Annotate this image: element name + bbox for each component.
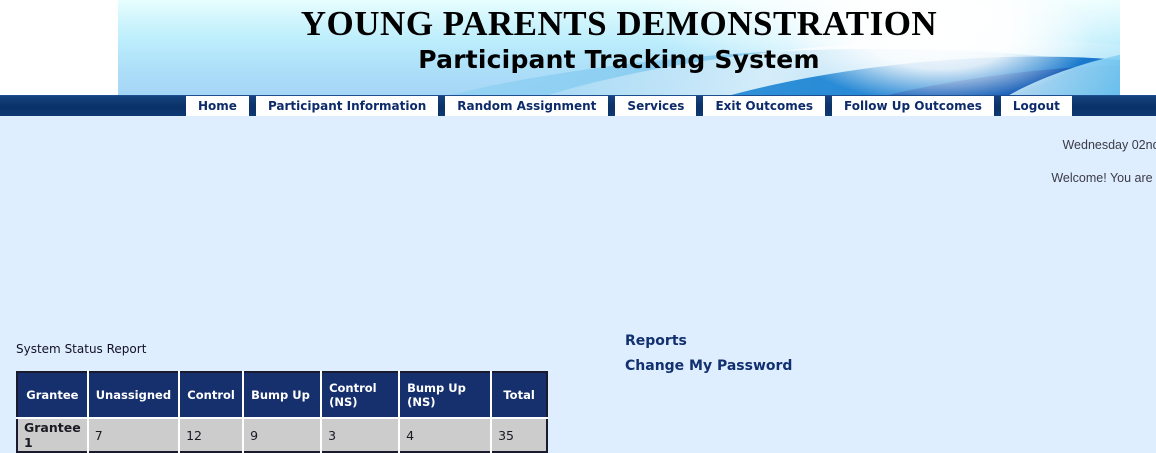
- welcome-message-text: Welcome! You are currently logged: [89, 171, 1156, 185]
- cell-unassigned: 7: [88, 418, 179, 452]
- cell-control: 12: [179, 418, 243, 452]
- cell-control-ns: 3: [321, 418, 399, 452]
- cell-grantee: Grantee 1: [17, 418, 88, 452]
- banner-title-group: YOUNG PARENTS DEMONSTRATION Participant …: [118, 0, 1120, 95]
- nav-item-random-assignment[interactable]: Random Assignment: [445, 96, 608, 117]
- nav-item-participant-information[interactable]: Participant Information: [256, 96, 438, 117]
- banner-artwork: YOUNG PARENTS DEMONSTRATION Participant …: [118, 0, 1120, 95]
- site-banner: YOUNG PARENTS DEMONSTRATION Participant …: [0, 0, 1156, 95]
- current-date-text: Wednesday 02nd of December 2: [89, 138, 1156, 152]
- column-header-total: Total: [491, 372, 547, 418]
- nav-item-exit-outcomes[interactable]: Exit Outcomes: [703, 96, 825, 117]
- column-header-control: Control: [179, 372, 243, 418]
- page-content: Wednesday 02nd of December 2 Welcome! Yo…: [0, 116, 1156, 427]
- column-header-bump-up-ns: Bump Up (NS): [399, 372, 491, 418]
- quick-links: Reports Change My Password: [625, 333, 792, 383]
- nav-item-services[interactable]: Services: [615, 96, 696, 117]
- cell-total: 35: [491, 418, 547, 452]
- column-header-bump-up: Bump Up: [243, 372, 321, 418]
- table-row: Grantee 1 7 12 9 3 4 35: [17, 418, 547, 452]
- cell-bump-up-ns: 4: [399, 418, 491, 452]
- system-status-report-table: Grantee Unassigned Control Bump Up Contr…: [16, 371, 548, 453]
- cell-bump-up: 9: [243, 418, 321, 452]
- system-status-report-label: System Status Report: [16, 342, 146, 356]
- column-header-grantee: Grantee: [17, 372, 88, 418]
- nav-item-home[interactable]: Home: [186, 96, 249, 117]
- link-change-my-password[interactable]: Change My Password: [625, 358, 792, 374]
- column-header-unassigned: Unassigned: [88, 372, 179, 418]
- column-header-control-ns: Control (NS): [321, 372, 399, 418]
- nav-item-logout[interactable]: Logout: [1001, 96, 1072, 117]
- table-header-row: Grantee Unassigned Control Bump Up Contr…: [17, 372, 547, 418]
- nav-item-follow-up-outcomes[interactable]: Follow Up Outcomes: [832, 96, 994, 117]
- site-title: YOUNG PARENTS DEMONSTRATION: [118, 0, 1120, 41]
- session-info: Wednesday 02nd of December 2 Welcome! Yo…: [0, 138, 1156, 204]
- site-subtitle: Participant Tracking System: [118, 41, 1120, 72]
- main-navigation: Home Participant Information Random Assi…: [0, 95, 1156, 116]
- link-reports[interactable]: Reports: [625, 333, 792, 349]
